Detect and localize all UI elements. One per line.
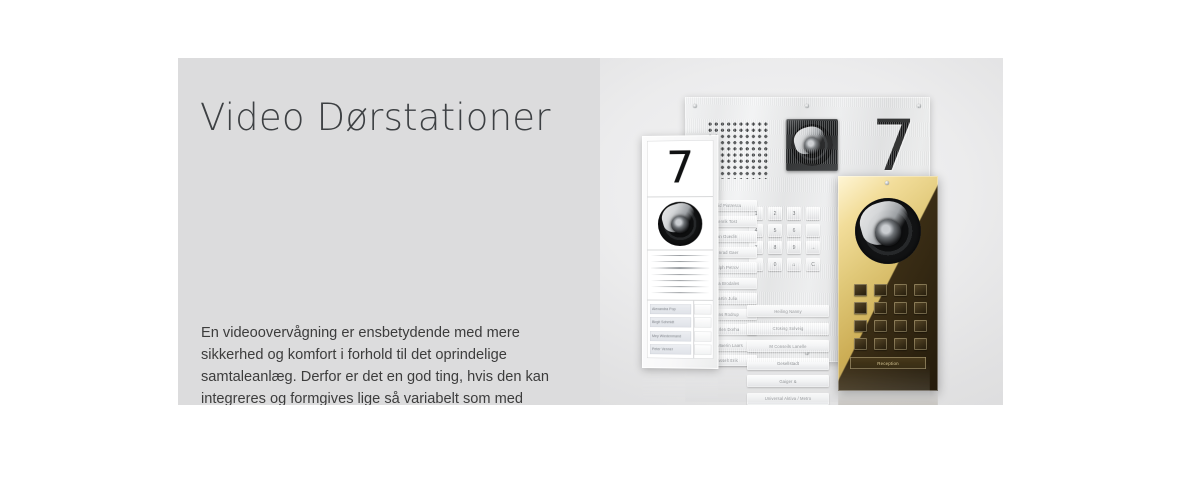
speaker-slat xyxy=(651,255,709,256)
product-image-stage: 7 123456789→*0⌂C Ingrid PiotrescuHenrik … xyxy=(600,58,1003,405)
call-button[interactable] xyxy=(694,318,711,328)
keypad-key[interactable]: C xyxy=(806,258,820,271)
camera-lens-icon xyxy=(791,124,833,166)
keypad-key[interactable]: 3 xyxy=(787,207,801,220)
screw-icon xyxy=(917,104,921,108)
nameplate-strip: Birgit Schmidt xyxy=(650,317,691,327)
call-button[interactable] xyxy=(694,345,711,355)
keypad-key[interactable] xyxy=(854,302,867,314)
nameplate-strips-white: Alexandra PopBirgit SchmidtMey Wiedenman… xyxy=(647,300,693,359)
keypad-key[interactable] xyxy=(874,338,887,350)
speaker-slat xyxy=(651,267,709,268)
keypad-key[interactable] xyxy=(854,284,867,296)
camera-module-steel xyxy=(786,119,838,171)
house-number-white: 7 xyxy=(666,146,694,190)
house-number-box-white: 7 xyxy=(647,140,713,197)
keypad-gold xyxy=(854,284,927,350)
call-button[interactable] xyxy=(694,304,711,314)
page-title: Video Dørstationer xyxy=(200,96,551,139)
reflection-white xyxy=(642,368,718,398)
keypad-key[interactable] xyxy=(854,338,867,350)
house-number-steel: 7 xyxy=(871,111,916,181)
keypad-key[interactable] xyxy=(914,284,927,296)
keypad-key[interactable] xyxy=(806,224,820,237)
keypad-key[interactable] xyxy=(806,207,820,220)
speaker-slat xyxy=(651,286,709,288)
nameplate-column-middle: Heiling NannyCrüsing SolveigM Conseils L… xyxy=(747,305,829,405)
teaser-text-column: Video Dørstationer En videoovervågning e… xyxy=(200,58,600,405)
intro-paragraph-text: En videoovervågning er ensbetydende med … xyxy=(201,325,549,405)
keypad-key[interactable] xyxy=(894,284,907,296)
keypad-key[interactable]: 6 xyxy=(787,224,801,237)
door-station-white-panel: 7 Alexandra PopBirgit SchmidtMey Wiedenm… xyxy=(642,135,718,369)
nameplate-box-white: Alexandra PopBirgit SchmidtMey Wiedenman… xyxy=(647,300,713,359)
nameplate-buttons-white xyxy=(693,300,713,359)
camera-box-white xyxy=(647,197,713,250)
video-door-stations-teaser-panel: Video Dørstationer En videoovervågning e… xyxy=(178,58,1003,405)
intro-paragraph: En videoovervågning er ensbetydende med … xyxy=(201,322,573,405)
keypad-key[interactable] xyxy=(914,302,927,314)
call-button[interactable] xyxy=(694,331,711,341)
keypad-steel: 123456789→*0⌂C xyxy=(749,207,820,271)
speaker-slat xyxy=(651,292,709,294)
keypad-key[interactable] xyxy=(894,302,907,314)
keypad-key[interactable] xyxy=(914,338,927,350)
keypad-key[interactable] xyxy=(874,284,887,296)
keypad-key[interactable]: 8 xyxy=(768,241,782,254)
speaker-slat xyxy=(651,280,709,281)
nameplate-button[interactable]: Gesellstadt xyxy=(747,358,829,370)
speaker-slat xyxy=(651,261,709,262)
keypad-key[interactable] xyxy=(914,320,927,332)
reflection-gold xyxy=(838,391,938,405)
nameplate-strip: Peter Venner xyxy=(650,344,691,354)
keypad-key[interactable] xyxy=(894,320,907,332)
nameplate-button[interactable]: Gaiger & xyxy=(747,375,829,387)
nameplate-button[interactable]: M Conseils Lanelle xyxy=(747,340,829,352)
nameplate-strip: Mey Wiedenmand xyxy=(650,331,691,341)
nameplate-button[interactable]: Heiling Nanny xyxy=(747,305,829,317)
keypad-key[interactable] xyxy=(894,338,907,350)
screw-icon xyxy=(885,181,889,185)
keypad-key[interactable]: 2 xyxy=(768,207,782,220)
screw-icon xyxy=(693,104,697,108)
camera-lens-icon xyxy=(658,201,702,245)
speaker-slat xyxy=(651,274,709,275)
nameplate-button[interactable]: Crüsing Solveig xyxy=(747,323,829,335)
keypad-key[interactable] xyxy=(874,320,887,332)
door-station-gold-panel: Reception xyxy=(838,176,938,391)
keypad-key[interactable] xyxy=(854,320,867,332)
keypad-key[interactable]: 0 xyxy=(768,258,782,271)
nameplate-button[interactable]: Universal Aktiva / Metro xyxy=(747,393,829,405)
nameplate-strip: Alexandra Pop xyxy=(650,304,691,314)
keypad-key[interactable]: → xyxy=(806,241,820,254)
keypad-key[interactable]: 5 xyxy=(768,224,782,237)
keypad-key[interactable]: ⌂ xyxy=(787,258,801,271)
screw-icon xyxy=(805,104,809,108)
keypad-key[interactable]: 9 xyxy=(787,241,801,254)
keypad-key[interactable] xyxy=(874,302,887,314)
speaker-grille-white xyxy=(647,250,713,300)
camera-lens-icon xyxy=(855,198,921,264)
gold-panel-label: Reception xyxy=(850,357,926,369)
